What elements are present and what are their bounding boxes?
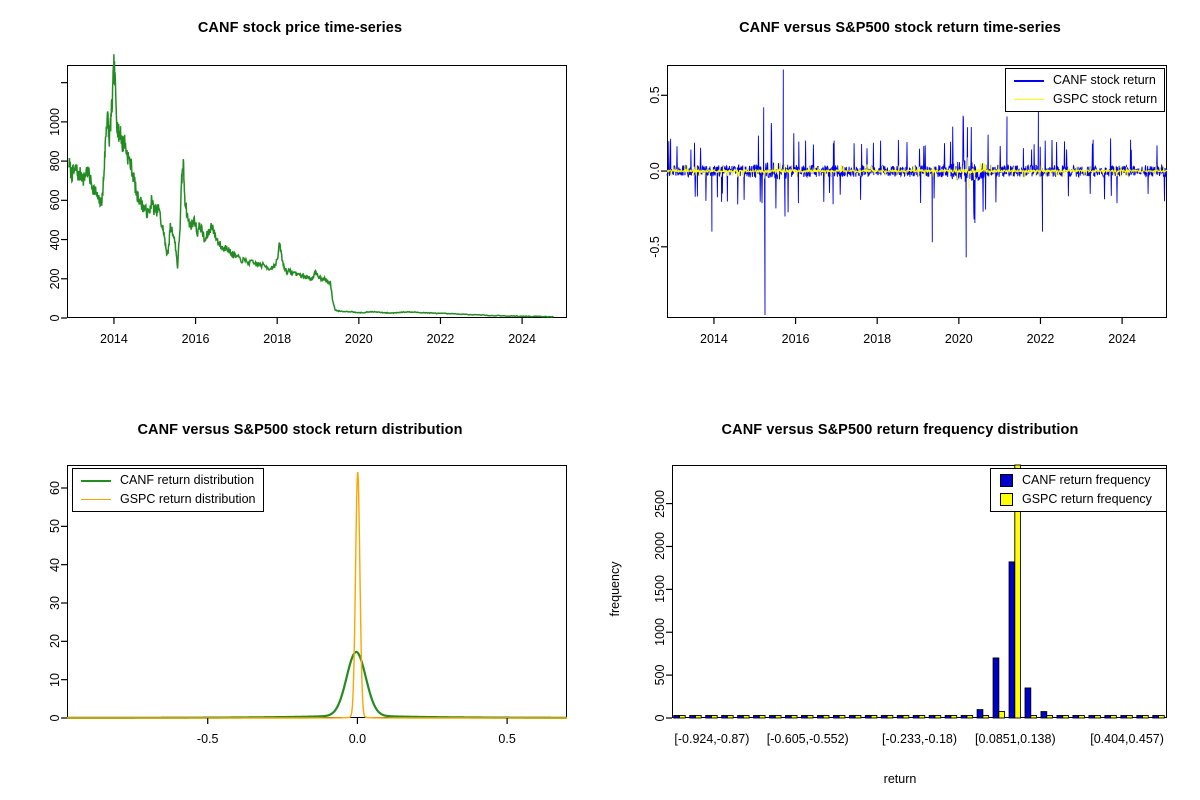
panel-return-density: CANF versus S&P500 stock return distribu…: [0, 400, 600, 800]
histogram-bar: [839, 716, 845, 719]
axis-tick-label: 60: [48, 481, 62, 495]
histogram-bar: [903, 716, 909, 719]
histogram-bar: [722, 716, 728, 719]
legend-label: CANF return distribution: [120, 474, 254, 487]
histogram-bar: [1031, 716, 1037, 719]
axis-tick-label: 1000: [48, 108, 62, 136]
histogram-bar: [833, 716, 839, 719]
legend-item[interactable]: GSPC return frequency: [991, 490, 1166, 509]
histogram-bar: [711, 716, 717, 719]
histogram-bar: [999, 712, 1005, 718]
histogram-bar: [977, 710, 983, 718]
axis-tick-label: 50: [48, 519, 62, 533]
histogram-bar: [993, 658, 999, 718]
panel-return-timeseries: CANF versus S&P500 stock return time-ser…: [600, 0, 1200, 400]
legend-item[interactable]: GSPC return distribution: [73, 490, 263, 509]
axis-tick-label: 0: [48, 315, 62, 322]
histogram-bar: [967, 716, 973, 719]
axis-tick-label: 0: [653, 715, 667, 722]
axis-tick-label: [-0.605,-0.552): [767, 732, 849, 746]
histogram-bar: [1063, 716, 1069, 719]
axis-tick-label: 40: [48, 558, 62, 572]
axis-tick-label: 200: [48, 268, 62, 289]
histogram-bar: [951, 716, 957, 719]
histogram-bar: [706, 716, 712, 719]
histogram-bar: [786, 716, 792, 719]
histogram-bar: [855, 716, 861, 719]
axis-tick-label: 2018: [263, 332, 291, 346]
histogram-bar: [881, 716, 887, 719]
histogram-bar: [919, 716, 925, 719]
histogram-bar: [1025, 688, 1031, 718]
histogram-bar: [727, 716, 733, 719]
axis-tick-label: 10: [48, 673, 62, 687]
histogram-bar: [1057, 716, 1063, 719]
frequency-x-axis-title: return: [600, 772, 1200, 786]
histogram-bar: [1121, 716, 1127, 719]
axis-tick-label: 0: [48, 715, 62, 722]
histogram-bar: [1137, 716, 1143, 719]
axis-tick-label: [-0.924,-0.87): [674, 732, 749, 746]
histogram-bar: [1047, 716, 1053, 719]
legend-item[interactable]: CANF return distribution: [73, 471, 263, 490]
legend-label: CANF stock return: [1053, 74, 1156, 87]
axis-tick-label: 2018: [863, 332, 891, 346]
histogram-bar: [849, 716, 855, 719]
histogram-bar: [775, 716, 781, 719]
legend-returns[interactable]: CANF stock return GSPC stock return: [1005, 68, 1165, 112]
axis-tick-label: 2500: [653, 490, 667, 518]
axis-tick-label: 20: [48, 634, 62, 648]
histogram-bar: [1143, 716, 1149, 719]
axis-tick-label: 800: [48, 151, 62, 172]
histogram-bar: [929, 716, 935, 719]
histogram-bar: [791, 716, 797, 719]
axis-tick-label: 0.0: [349, 732, 366, 746]
histogram-bar: [1105, 716, 1111, 719]
axis-tick-label: -0.5: [197, 732, 219, 746]
histogram-bar: [945, 716, 951, 719]
frequency-y-axis-title: frequency: [608, 554, 622, 624]
axis-tick-label: 0.5: [498, 732, 515, 746]
histogram-bar: [1153, 716, 1159, 719]
histogram-bar: [770, 716, 776, 719]
histogram-bar: [1111, 716, 1117, 719]
histogram-bar: [871, 716, 877, 719]
histogram-bar: [1089, 716, 1095, 719]
axis-tick-label: 2024: [508, 332, 536, 346]
histogram-bar: [887, 716, 893, 719]
histogram-bar: [801, 716, 807, 719]
axis-tick-label: [-0.233,-0.18): [882, 732, 957, 746]
histogram-bar: [1041, 712, 1047, 718]
axis-tick-label: 30: [48, 596, 62, 610]
histogram-bar: [1127, 716, 1133, 719]
histogram-bar: [690, 716, 696, 719]
axis-tick-label: 1000: [653, 618, 667, 646]
histogram-bar: [1095, 716, 1101, 719]
panel-canf-price: CANF stock price time-series 20142016201…: [0, 0, 600, 400]
figure-grid: CANF stock price time-series 20142016201…: [0, 0, 1200, 800]
histogram-bar: [759, 716, 765, 719]
axis-tick-label: 2022: [1027, 332, 1055, 346]
axis-tick-label: 400: [48, 229, 62, 250]
histogram-bar: [817, 716, 823, 719]
axis-tick-label: 500: [653, 665, 667, 686]
axis-tick-label: 2016: [782, 332, 810, 346]
histogram-bar: [983, 716, 989, 719]
legend-item[interactable]: CANF return frequency: [991, 471, 1166, 490]
axis-tick-label: 2022: [427, 332, 455, 346]
legend-item[interactable]: GSPC stock return: [1006, 90, 1164, 109]
histogram-bar: [823, 716, 829, 719]
histogram-bar: [738, 716, 744, 719]
histogram-bar: [897, 716, 903, 719]
axis-tick-label: 2024: [1108, 332, 1136, 346]
axis-tick-label: 2016: [182, 332, 210, 346]
histogram-bar: [1079, 716, 1085, 719]
histogram-bar: [674, 716, 680, 719]
axis-tick-label: 0.5: [648, 87, 662, 104]
axis-tick-label: 2020: [345, 332, 373, 346]
histogram-bar: [1073, 716, 1079, 719]
legend-item[interactable]: CANF stock return: [1006, 71, 1164, 90]
legend-label: GSPC return frequency: [1022, 493, 1152, 506]
axis-tick-label: 0.0: [648, 162, 662, 179]
axis-tick-label: [0.0851,0.138): [975, 732, 1056, 746]
histogram-bar: [807, 716, 813, 719]
axis-tick-label: 600: [48, 190, 62, 211]
histogram-bar: [961, 716, 967, 719]
axis-tick-label: -0.5: [648, 236, 662, 258]
axis-tick-label: 2014: [100, 332, 128, 346]
legend-label: GSPC stock return: [1053, 93, 1157, 106]
legend-square-swatch-canf-return-frequency: [1000, 474, 1013, 487]
histogram-bar: [695, 716, 701, 719]
panel-return-frequency: CANF versus S&P500 return frequency dist…: [600, 400, 1200, 800]
legend-square-swatch-gspc-return-frequency: [1000, 493, 1013, 506]
legend-label: CANF return frequency: [1022, 474, 1151, 487]
legend-label: GSPC return distribution: [120, 493, 255, 506]
legend-density[interactable]: CANF return distribution GSPC return dis…: [72, 468, 264, 512]
histogram-bar: [1009, 562, 1015, 718]
legend-line-swatch-gspc-return-distribution: [81, 499, 111, 500]
axis-tick-label: 2014: [700, 332, 728, 346]
histogram-bar: [935, 716, 941, 719]
histogram-bar: [1159, 716, 1165, 719]
histogram-bar: [865, 716, 871, 719]
legend-line-swatch-canf-stock-return: [1014, 80, 1044, 82]
histogram-bar: [679, 716, 685, 719]
axis-tick-label: 1500: [653, 575, 667, 603]
axis-tick-label: 2000: [653, 533, 667, 561]
histogram-bar: [913, 716, 919, 719]
axis-tick-label: 2020: [945, 332, 973, 346]
legend-line-swatch-canf-return-distribution: [81, 480, 111, 482]
histogram-bar: [743, 716, 749, 719]
histogram-bar: [754, 716, 760, 719]
axis-tick-label: [0.404,0.457): [1090, 732, 1164, 746]
legend-line-swatch-gspc-stock-return: [1014, 99, 1044, 100]
legend-frequency[interactable]: CANF return frequency GSPC return freque…: [990, 468, 1167, 512]
